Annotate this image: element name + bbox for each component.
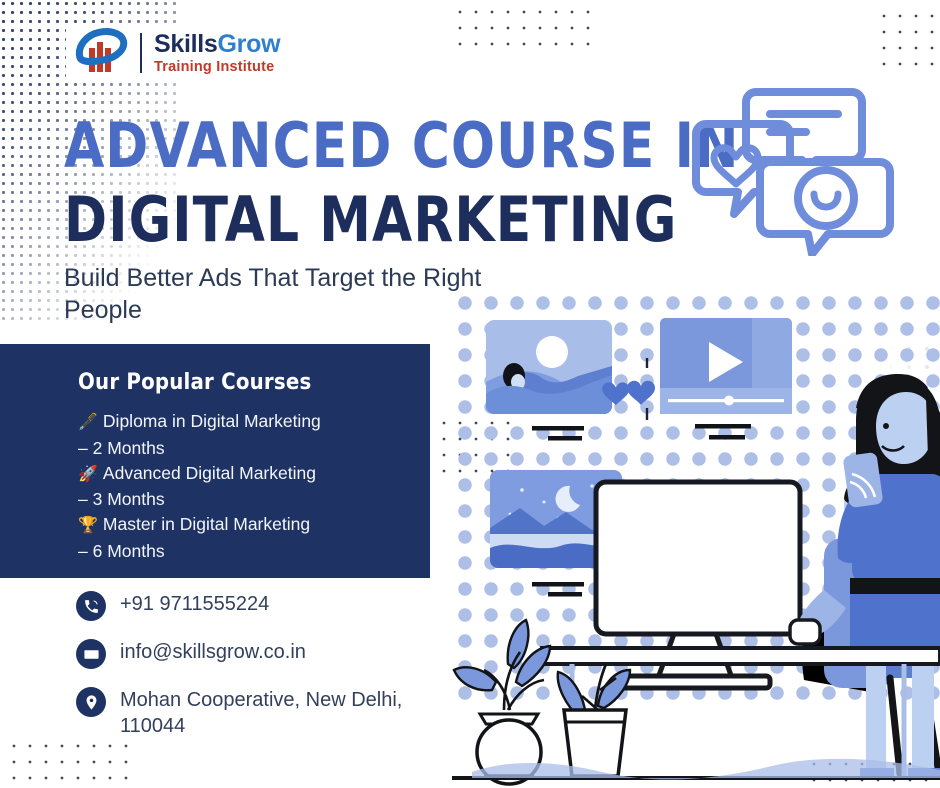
popular-courses-panel: Our Popular Courses 🖋️Diploma in Digital… (0, 344, 430, 578)
logo-tagline: Training Institute (154, 60, 280, 75)
logo-divider (140, 33, 142, 73)
contact-phone-row[interactable]: +91 9711555224 (76, 590, 416, 621)
logo-wordmark: SkillsGrow Training Institute (154, 32, 280, 75)
pen-icon: 🖋️ (78, 414, 98, 431)
contact-phone-text: +91 9711555224 (120, 590, 269, 618)
contact-email-row[interactable]: info@skillsgrow.co.in (76, 638, 416, 669)
contact-address-row[interactable]: Mohan Cooperative, New Delhi, 110044 (76, 686, 416, 739)
swoosh-bar-chart-logo-mark (74, 28, 130, 78)
dot-grid-top-right (876, 8, 938, 72)
dot-grid-top-center (452, 4, 598, 52)
belt (850, 578, 940, 594)
phone-icon (76, 591, 106, 621)
headline-line-2: DIGITAL MARKETING (64, 190, 641, 250)
course-name: Master in Digital Marketing (103, 514, 310, 534)
caption-line (532, 426, 584, 431)
contact-email-text: info@skillsgrow.co.in (120, 638, 306, 666)
brand-logo: SkillsGrow Training Institute (66, 24, 288, 82)
poster-canvas: SkillsGrow Training Institute ADVANCED C… (0, 0, 940, 788)
course-duration: – 3 Months (78, 487, 400, 512)
caption-line (548, 436, 582, 441)
social-media-marketing-illustration (452, 290, 940, 788)
location-pin-icon (76, 687, 106, 717)
rocket-icon: 🚀 (78, 466, 98, 483)
headline-block: ADVANCED COURSE IN DIGITAL MARKETING (64, 116, 684, 263)
course-list-item: 🚀Advanced Digital Marketing – 3 Months (78, 461, 400, 513)
potted-plant-round-vase (454, 620, 550, 784)
potted-plant-tall-pot (558, 664, 630, 776)
envelope-icon (76, 639, 106, 669)
logo-name-skills: Skills (154, 30, 218, 58)
caption-line (532, 582, 584, 587)
course-list-item: 🏆Master in Digital Marketing – 6 Months (78, 512, 400, 564)
course-list-item: 🖋️Diploma in Digital Marketing – 2 Month… (78, 409, 400, 461)
caption-line (709, 435, 745, 440)
course-duration: – 2 Months (78, 436, 400, 461)
course-duration: – 6 Months (78, 539, 400, 564)
course-name: Diploma in Digital Marketing (103, 411, 321, 431)
caption-line (548, 592, 582, 597)
logo-name-grow: Grow (218, 30, 281, 58)
chat-bubbles-icon (690, 76, 900, 256)
contact-block: +91 9711555224 info@skillsgrow.co.in Moh… (76, 590, 416, 756)
courses-panel-title: Our Popular Courses (78, 370, 400, 395)
headline-line-1: ADVANCED COURSE IN (64, 116, 641, 176)
video-player-post-card (660, 318, 794, 414)
beach-photo-post-card (486, 320, 612, 414)
contact-address-text: Mohan Cooperative, New Delhi, 110044 (120, 686, 416, 739)
trophy-icon: 🏆 (78, 517, 98, 534)
course-name: Advanced Digital Marketing (103, 463, 316, 483)
caption-line (695, 424, 751, 429)
subheadline: Build Better Ads That Target the Right P… (64, 262, 494, 326)
